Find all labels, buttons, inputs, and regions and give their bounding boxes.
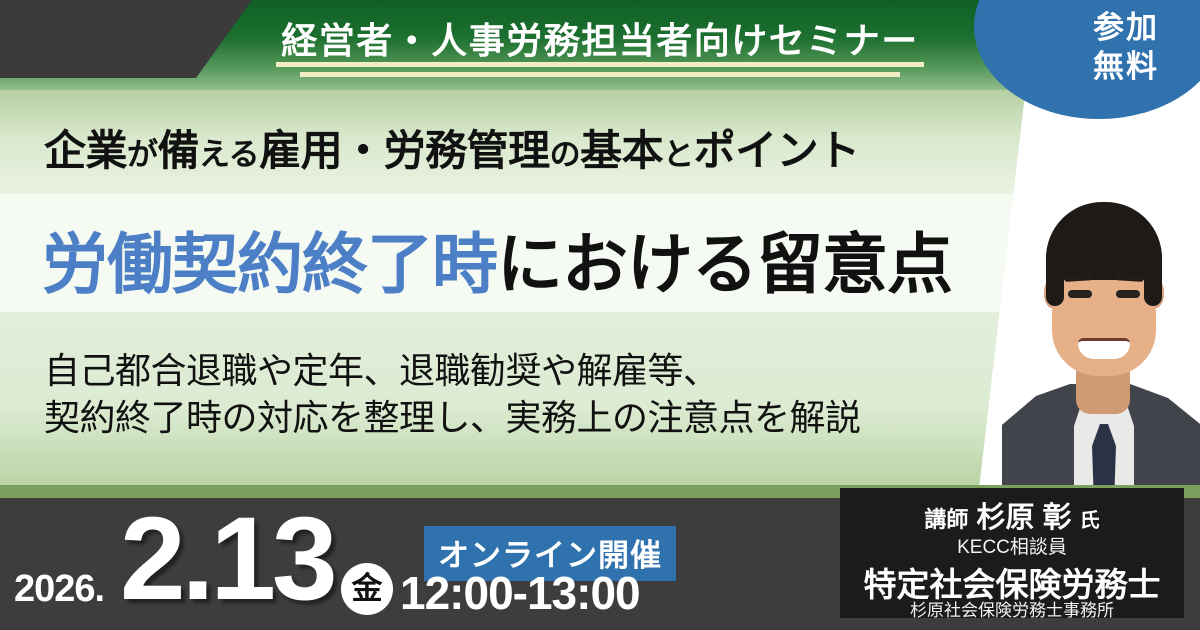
description: 自己都合退職や定年、退職勧奨や解雇等、 契約終了時の対応を整理し、実務上の注意点… [44,347,861,441]
free-badge-line1: 参加 [1066,8,1186,47]
subtitle-seg-8: と [663,137,694,172]
speaker-photo [1002,162,1200,497]
description-line-2: 契約終了時の対応を整理し、実務上の注意点を解説 [44,394,861,441]
speaker-affiliation: KECC相談員 [840,532,1184,559]
subtitle-seg-2: が [127,137,158,172]
event-day-of-week: 金 [341,563,393,615]
speaker-photo-eye-left [1068,290,1092,298]
event-date: 2.13 [120,500,334,618]
subtitle: 企業が備える雇用・労務管理の基本とポイント [44,117,860,178]
speaker-photo-mouth [1078,338,1130,359]
event-time: 12:00-13:00 [400,566,640,620]
speaker-info-panel: 講師 杉原 彰 氏 KECC相談員 特定社会保険労務士 杉原社会保険労務士事務所 [840,488,1184,618]
subtitle-seg-5: 雇用・労務管理 [259,127,550,174]
header-underline-lower [300,72,900,77]
headline: 労働契約終了時における留意点 [42,211,952,307]
description-line-1: 自己都合退職や定年、退職勧奨や解雇等、 [44,347,861,394]
speaker-role-label: 講師 [924,507,968,532]
subtitle-seg-4: える [199,137,259,172]
speaker-name-suffix: 氏 [1080,510,1100,532]
speaker-photo-eye-right [1116,290,1140,298]
speaker-office: 杉原社会保険労務士事務所 [840,596,1184,621]
subtitle-seg-1: 企業 [44,127,127,174]
speaker-photo-hair-side-left [1046,254,1064,306]
speaker-name: 杉原 彰 [976,502,1071,534]
speaker-name-row: 講師 杉原 彰 氏 [840,494,1184,536]
header-title: 経営者・人事労務担当者向けセミナー [250,12,950,64]
subtitle-seg-6: の [550,137,581,172]
headline-rest: における留意点 [497,227,952,301]
speaker-photo-hair-side-right [1144,254,1162,306]
subtitle-seg-7: 基本 [580,127,663,174]
subtitle-seg-9: ポイント [694,127,860,174]
headline-highlight: 労働契約終了時 [42,227,497,301]
header-underline-upper [276,62,924,67]
seminar-banner: ランチタイム セミナー vol.14 経営者・人事労務担当者向けセミナー 参加 … [0,0,1200,630]
free-participation-badge-text: 参加 無料 [1066,8,1186,86]
subtitle-seg-3: 備 [158,127,200,174]
free-badge-line2: 無料 [1066,47,1186,86]
event-year: 2026. [14,568,104,611]
